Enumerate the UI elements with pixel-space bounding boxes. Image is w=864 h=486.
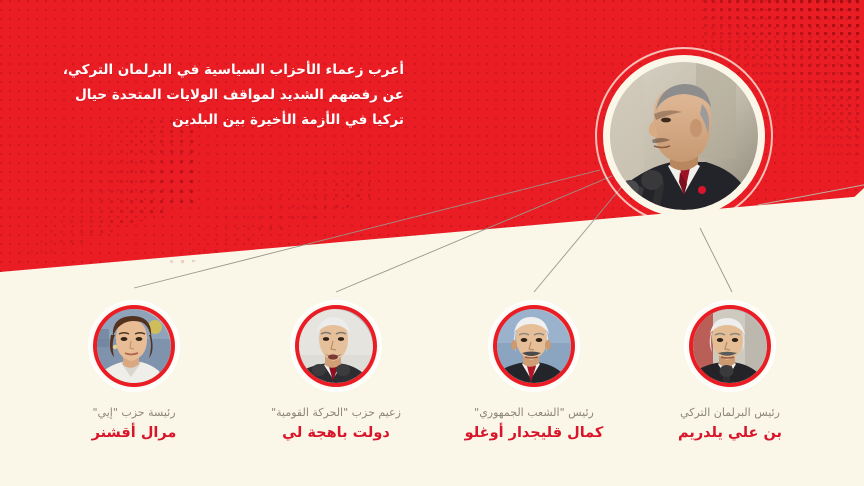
- leader-name-2: دولت باهجة لي: [236, 424, 436, 443]
- leader-card-3[interactable]: رئيس "الشعب الجمهوري" كمال قليجدار أوغلو: [434, 300, 634, 443]
- leader-name-3: كمال قليجدار أوغلو: [434, 424, 634, 443]
- hero-ring: [603, 55, 765, 217]
- leader-role-1: رئيسة حزب "إيي": [34, 405, 234, 420]
- leader-ring-1: [93, 305, 175, 387]
- leader-role-3: رئيس "الشعب الجمهوري": [434, 405, 634, 420]
- leader-card-1[interactable]: رئيسة حزب "إيي" مرال أقشنر: [34, 300, 234, 443]
- hero-photo: [610, 62, 758, 210]
- leader-photo-1: [97, 309, 171, 383]
- leader-halo-1: [88, 300, 180, 392]
- leader-name-1: مرال أقشنر: [34, 424, 234, 443]
- leaders-row: رئيسة حزب "إيي" مرال أقشنر TIM: [0, 300, 864, 486]
- leader-ring-3: [493, 305, 575, 387]
- leader-ring-2: TIM: [295, 305, 377, 387]
- leader-role-2: زعيم حزب "الحركة القومية": [236, 405, 436, 420]
- leader-photo-2: TIM: [299, 309, 373, 383]
- leader-role-4: رئيس البرلمان التركي: [630, 405, 830, 420]
- leader-photo-illustration-2: TIM: [299, 309, 373, 383]
- leader-photo-illustration-4: [693, 309, 767, 383]
- leader-photo-illustration-3: [497, 309, 571, 383]
- leader-name-4: بن علي يلدريم: [630, 424, 830, 443]
- leader-halo-4: [684, 300, 776, 392]
- hero-portrait: [603, 55, 765, 217]
- headline-text: أعرب زعماء الأحزاب السياسية في البرلمان …: [48, 58, 404, 133]
- leader-photo-4: [693, 309, 767, 383]
- leader-card-2[interactable]: TIM: [236, 300, 436, 443]
- leader-photo-3: [497, 309, 571, 383]
- leader-ring-4: [689, 305, 771, 387]
- leader-photo-illustration-1: [97, 309, 171, 383]
- infographic-canvas: أعرب زعماء الأحزاب السياسية في البرلمان …: [0, 0, 864, 486]
- leader-card-4[interactable]: رئيس البرلمان التركي بن علي يلدريم: [630, 300, 830, 443]
- hero-photo-illustration: [610, 62, 758, 210]
- leader-halo-3: [488, 300, 580, 392]
- leader-halo-2: TIM: [290, 300, 382, 392]
